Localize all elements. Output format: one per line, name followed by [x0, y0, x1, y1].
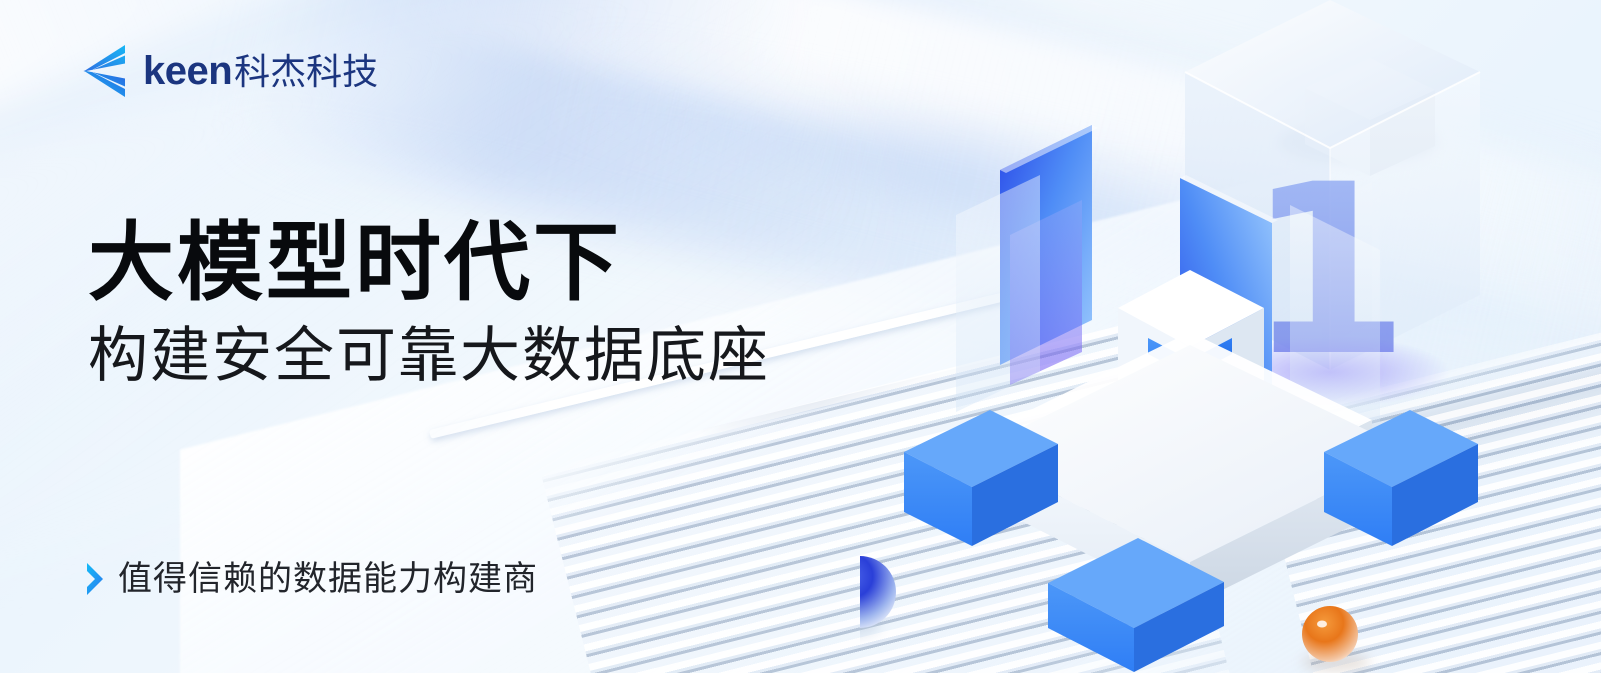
glass-cube — [1185, 0, 1480, 370]
ridged-floor-right-shadow — [1245, 353, 1601, 523]
glass-panel-left — [956, 175, 1040, 412]
brand-logo[interactable]: keen 科杰科技 — [82, 44, 378, 98]
blue-sphere-shadow — [860, 613, 880, 637]
small-white-cube — [1305, 58, 1435, 176]
chevron-right-icon — [84, 561, 106, 597]
glass-panel-back-right — [1322, 182, 1372, 348]
numeral-glow — [1210, 336, 1450, 408]
blue-corner-block-right — [1324, 410, 1478, 546]
glass-cube-top — [1185, 0, 1480, 148]
tagline-block: 值得信赖的数据能力构建商 — [84, 561, 538, 597]
blue-panel-right — [1180, 175, 1278, 420]
ridged-floor-right — [1250, 270, 1601, 673]
orange-sphere-shadow — [1302, 652, 1370, 672]
blue-sphere — [860, 556, 896, 628]
small-white-cube-shadow — [1278, 120, 1438, 164]
platform-base — [972, 332, 1412, 606]
orange-sphere-highlight — [1317, 621, 1327, 628]
tagline-text: 值得信赖的数据能力构建商 — [118, 562, 538, 596]
numeral-one: 1 — [1246, 135, 1410, 408]
glass-panel-right — [1290, 205, 1380, 444]
orange-sphere — [1302, 606, 1358, 662]
brand-wordmark: keen 科杰科技 — [143, 51, 378, 91]
glass-cube-left-face — [1185, 72, 1330, 370]
blue-corner-block-front — [1048, 538, 1224, 672]
server-tower — [1118, 270, 1264, 472]
server-stripes — [1148, 338, 1232, 444]
blue-panel-left — [1000, 125, 1098, 385]
headline-sub: 构建安全可靠大数据底座 — [88, 323, 770, 389]
brand-chinese-text: 科杰科技 — [234, 55, 378, 91]
keen-k-mark-icon — [82, 44, 132, 98]
brand-latin-text: keen — [143, 51, 232, 91]
headline-block: 大模型时代下 构建安全可靠大数据底座 — [88, 218, 770, 389]
isometric-data-platform-illustration: 1 — [860, 0, 1601, 673]
glass-cube-number: 1 — [1246, 135, 1410, 408]
hero-banner: 1 — [0, 0, 1601, 673]
blue-corner-block-left — [904, 410, 1058, 546]
headline-main: 大模型时代下 — [88, 218, 770, 309]
glass-cube-right-face — [1330, 72, 1480, 370]
